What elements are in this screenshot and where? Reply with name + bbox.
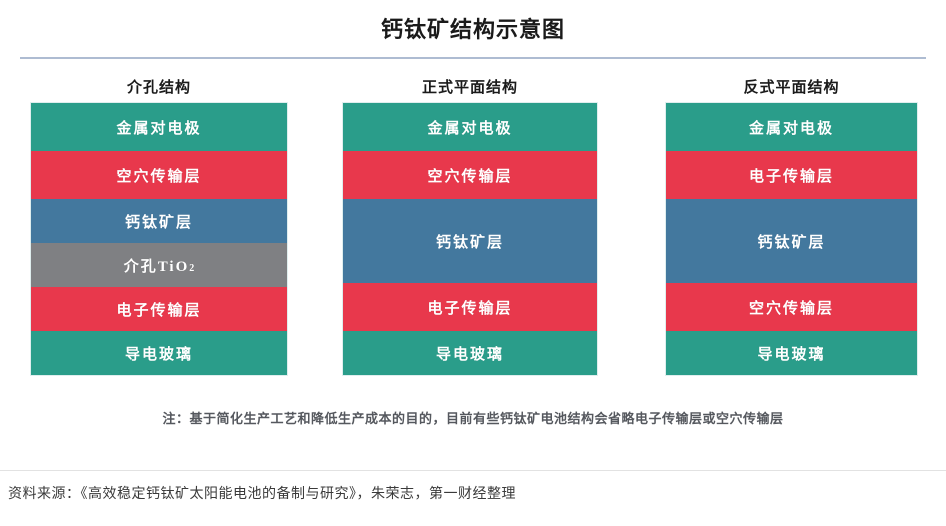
column-heading-formal-planar: 正式平面结构: [342, 78, 598, 102]
page-title: 钙钛矿结构示意图: [0, 12, 946, 44]
layer-label: 导电玻璃: [757, 343, 825, 364]
source-divider: [0, 470, 946, 471]
layer-label: 钙钛矿层: [125, 211, 193, 232]
layer-label: 介孔TiO: [124, 255, 190, 276]
source-note: 资料来源：《高效稳定钙钛矿太阳能电池的备制与研究》，朱荣志，第一财经整理: [8, 483, 516, 503]
layer-hole-transport: 空穴传输层: [343, 151, 597, 199]
layer-label: 钙钛矿层: [757, 231, 825, 252]
layer-conductive-glass: 导电玻璃: [666, 331, 917, 375]
layer-hole-transport: 空穴传输层: [31, 151, 287, 199]
layer-label: 电子传输层: [427, 297, 512, 318]
layer-label: 金属对电极: [427, 117, 512, 138]
layer-perovskite: 钙钛矿层: [666, 199, 917, 283]
layer-label: 空穴传输层: [749, 297, 834, 318]
perovskite-structure-diagram: 介孔结构 金属对电极 空穴传输层 钙钛矿层 介孔TiO2 电子传输层 导电玻璃 …: [0, 78, 946, 378]
structure-column-formal-planar: 正式平面结构 金属对电极 空穴传输层 钙钛矿层 电子传输层 导电玻璃: [342, 78, 598, 376]
layer-metal-counter-electrode: 金属对电极: [343, 103, 597, 151]
layer-perovskite: 钙钛矿层: [343, 199, 597, 283]
layer-label: 钙钛矿层: [436, 231, 504, 252]
layer-stack-mesoporous: 金属对电极 空穴传输层 钙钛矿层 介孔TiO2 电子传输层 导电玻璃: [30, 102, 288, 376]
layer-label: 空穴传输层: [427, 165, 512, 186]
layer-conductive-glass: 导电玻璃: [343, 331, 597, 375]
title-divider: [20, 57, 926, 59]
layer-mesoporous-tio2: 介孔TiO2: [31, 243, 287, 287]
layer-label: 空穴传输层: [116, 165, 201, 186]
column-heading-inverted-planar: 反式平面结构: [665, 78, 918, 102]
layer-label: 导电玻璃: [125, 343, 193, 364]
layer-stack-inverted-planar: 金属对电极 电子传输层 钙钛矿层 空穴传输层 导电玻璃: [665, 102, 918, 376]
layer-perovskite: 钙钛矿层: [31, 199, 287, 243]
layer-label: 电子传输层: [749, 165, 834, 186]
structure-column-mesoporous: 介孔结构 金属对电极 空穴传输层 钙钛矿层 介孔TiO2 电子传输层 导电玻璃: [30, 78, 288, 376]
layer-electron-transport: 电子传输层: [31, 287, 287, 331]
column-heading-mesoporous: 介孔结构: [30, 78, 288, 102]
layer-conductive-glass: 导电玻璃: [31, 331, 287, 375]
layer-stack-formal-planar: 金属对电极 空穴传输层 钙钛矿层 电子传输层 导电玻璃: [342, 102, 598, 376]
layer-label-subscript: 2: [189, 263, 194, 274]
layer-metal-counter-electrode: 金属对电极: [31, 103, 287, 151]
layer-hole-transport: 空穴传输层: [666, 283, 917, 331]
layer-label: 金属对电极: [116, 117, 201, 138]
layer-electron-transport: 电子传输层: [666, 151, 917, 199]
layer-label: 导电玻璃: [436, 343, 504, 364]
layer-label: 金属对电极: [749, 117, 834, 138]
layer-metal-counter-electrode: 金属对电极: [666, 103, 917, 151]
footnote: 注：基于简化生产工艺和降低生产成本的目的，目前有些钙钛矿电池结构会省略电子传输层…: [0, 408, 946, 427]
layer-label: 电子传输层: [116, 299, 201, 320]
layer-electron-transport: 电子传输层: [343, 283, 597, 331]
structure-column-inverted-planar: 反式平面结构 金属对电极 电子传输层 钙钛矿层 空穴传输层 导电玻璃: [665, 78, 918, 376]
